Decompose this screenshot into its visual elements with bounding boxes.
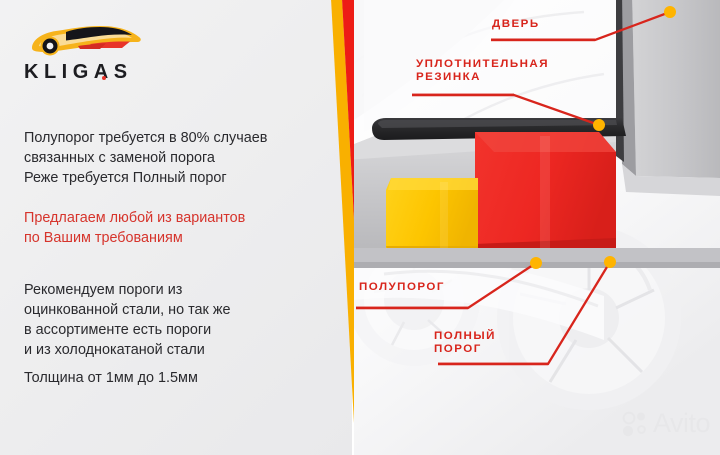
left-info-panel: KLIGAS Полупорог требуется в 80% случаев… xyxy=(0,0,352,455)
callout-label-full-sill-line2: ПОРОГ xyxy=(434,343,496,356)
callout-label-half-sill-text: ПОЛУПОРОГ xyxy=(359,281,445,293)
recommendation-line-3: в ассортименте есть пороги xyxy=(24,320,230,340)
marker-door xyxy=(664,6,676,18)
brand-logo: KLIGAS xyxy=(24,18,184,90)
paragraph-recommendation: Рекомендуем пороги из оцинкованной стали… xyxy=(24,280,230,360)
callout-label-seal: УПЛОТНИТЕЛЬНАЯ РЕЗИНКА xyxy=(416,58,549,84)
paragraph-thickness: Толщина от 1мм до 1.5мм xyxy=(24,368,198,388)
door-panel xyxy=(616,0,720,196)
offer-line-2: по Вашим требованиям xyxy=(24,228,245,248)
promo-image: KLIGAS Полупорог требуется в 80% случаев… xyxy=(0,0,720,455)
thickness-line-1: Толщина от 1мм до 1.5мм xyxy=(24,368,198,388)
logo-accent-dot xyxy=(102,76,106,80)
avito-logo-icon xyxy=(622,411,648,437)
recommendation-line-2: оцинкованной стали, но так же xyxy=(24,300,230,320)
avito-watermark-text: Avito xyxy=(653,408,710,439)
intro-line-1: Полупорог требуется в 80% случаев xyxy=(24,128,267,148)
sports-car-logo-icon xyxy=(26,18,146,62)
marker-half-sill xyxy=(530,257,542,269)
callout-label-half-sill: ПОЛУПОРОГ xyxy=(359,281,445,294)
full-sill-part xyxy=(475,132,616,258)
intro-line-3: Реже требуется Полный порог xyxy=(24,168,267,188)
brand-name-text: KLIGAS xyxy=(24,61,133,83)
marker-seal xyxy=(593,119,605,131)
brand-wordmark: KLIGAS xyxy=(24,62,133,82)
callout-label-full-sill: ПОЛНЫЙ ПОРОГ xyxy=(434,330,496,356)
callout-label-full-sill-line1: ПОЛНЫЙ xyxy=(434,330,496,343)
recommendation-line-1: Рекомендуем пороги из xyxy=(24,280,230,300)
half-sill-part xyxy=(386,178,478,258)
callout-label-seal-line2: РЕЗИНКА xyxy=(416,71,549,84)
callout-label-door-text: ДВЕРЬ xyxy=(492,18,540,30)
intro-line-2: связанных с заменой порога xyxy=(24,148,267,168)
avito-watermark: Avito xyxy=(622,408,710,439)
right-diagram-panel: ДВЕРЬ УПЛОТНИТЕЛЬНАЯ РЕЗИНКА ПОЛУПОРОГ П… xyxy=(354,0,720,455)
paragraph-intro: Полупорог требуется в 80% случаев связан… xyxy=(24,128,267,188)
recommendation-line-4: и из холоднокатаной стали xyxy=(24,340,230,360)
callout-label-door: ДВЕРЬ xyxy=(492,18,540,31)
marker-full-sill xyxy=(604,256,616,268)
offer-line-1: Предлагаем любой из вариантов xyxy=(24,208,245,228)
callout-label-seal-line1: УПЛОТНИТЕЛЬНАЯ xyxy=(416,58,549,71)
paragraph-offer: Предлагаем любой из вариантов по Вашим т… xyxy=(24,208,245,248)
